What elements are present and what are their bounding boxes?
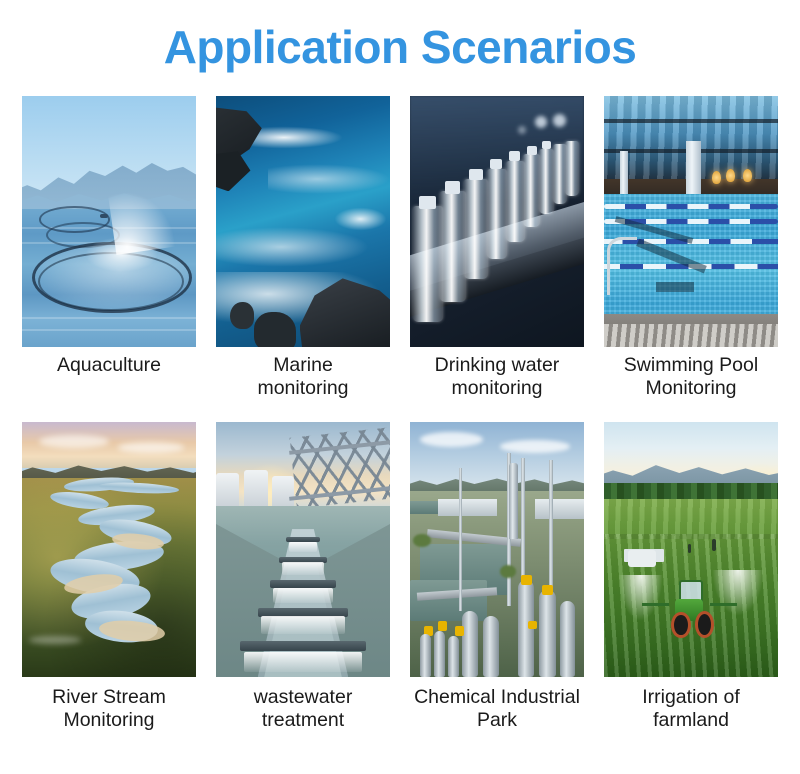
- scenario-caption: River Stream Monitoring: [22, 686, 196, 732]
- caption-line: Irrigation of: [604, 686, 778, 709]
- row-gap-spacer: [604, 400, 778, 422]
- swimming-pool-scene-art: [604, 96, 778, 347]
- scenario-card-wastewater-treatment[interactable]: wastewater treatment: [216, 422, 390, 732]
- caption-line: treatment: [216, 709, 390, 732]
- scenario-caption: Aquaculture: [22, 354, 196, 377]
- swimming-pool-monitoring-photo: [604, 96, 778, 347]
- drinking-water-scene-art: [410, 96, 584, 347]
- wastewater-treatment-photo: [216, 422, 390, 677]
- wastewater-treatment-scene-art: [216, 422, 390, 677]
- caption-line: Monitoring: [22, 709, 196, 732]
- caption-line: River Stream: [22, 686, 196, 709]
- scenario-card-swimming-pool-monitoring[interactable]: Swimming Pool Monitoring: [604, 96, 778, 400]
- row-gap-spacer: [216, 400, 390, 422]
- caption-line: monitoring: [216, 377, 390, 400]
- scenario-caption: Irrigation of farmland: [604, 686, 778, 732]
- scenario-card-river-stream-monitoring[interactable]: River Stream Monitoring: [22, 422, 196, 732]
- marine-monitoring-scene-art: [216, 96, 390, 347]
- caption-line: monitoring: [410, 377, 584, 400]
- scenario-caption: Swimming Pool Monitoring: [604, 354, 778, 400]
- caption-line: farmland: [604, 709, 778, 732]
- scenario-caption: wastewater treatment: [216, 686, 390, 732]
- river-stream-monitoring-photo: [22, 422, 196, 677]
- river-stream-scene-art: [22, 422, 196, 677]
- drinking-water-monitoring-photo: [410, 96, 584, 347]
- page-title: Application Scenarios: [0, 0, 800, 70]
- caption-line: Monitoring: [604, 377, 778, 400]
- caption-line: Marine: [216, 354, 390, 377]
- aquaculture-photo: [22, 96, 196, 347]
- marine-monitoring-photo: [216, 96, 390, 347]
- row-gap-spacer: [410, 400, 584, 422]
- scenario-card-chemical-industrial-park[interactable]: Chemical Industrial Park: [410, 422, 584, 732]
- scenario-caption: Marine monitoring: [216, 354, 390, 400]
- scenario-card-drinking-water-monitoring[interactable]: Drinking water monitoring: [410, 96, 584, 400]
- scenario-caption: Chemical Industrial Park: [410, 686, 584, 732]
- irrigation-of-farmland-photo: [604, 422, 778, 677]
- chemical-industrial-park-photo: [410, 422, 584, 677]
- aquaculture-scene-art: [22, 96, 196, 347]
- caption-line: Swimming Pool: [604, 354, 778, 377]
- chemical-industrial-park-scene-art: [410, 422, 584, 677]
- irrigation-of-farmland-scene-art: [604, 422, 778, 677]
- scenario-card-marine-monitoring[interactable]: Marine monitoring: [216, 96, 390, 400]
- scenario-card-irrigation-of-farmland[interactable]: Irrigation of farmland: [604, 422, 778, 732]
- scenario-card-aquaculture[interactable]: Aquaculture: [22, 96, 196, 400]
- row-gap-spacer: [22, 400, 196, 422]
- scenario-grid: Aquaculture: [0, 96, 800, 732]
- caption-line: Drinking water: [410, 354, 584, 377]
- caption-line: Chemical Industrial: [410, 686, 584, 709]
- caption-line: Aquaculture: [22, 354, 196, 377]
- caption-line: wastewater: [216, 686, 390, 709]
- caption-line: Park: [410, 709, 584, 732]
- scenario-caption: Drinking water monitoring: [410, 354, 584, 400]
